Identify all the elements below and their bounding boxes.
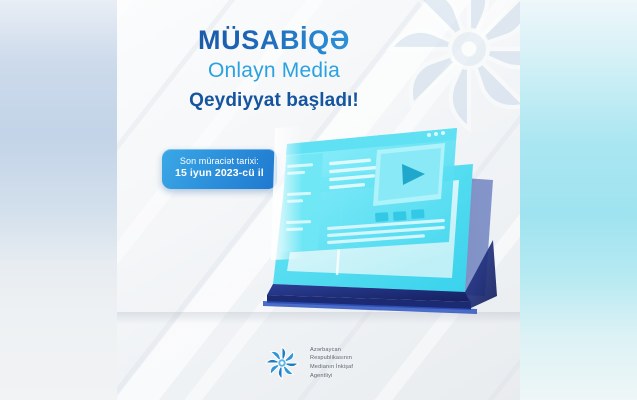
page-title: MÜSABİQƏ xyxy=(149,26,399,55)
deadline-date: 15 iyun 2023-cü il xyxy=(175,167,264,181)
page-subtitle: Onlayn Media xyxy=(149,59,399,82)
page-cta-text: Qeydiyyat başladı! xyxy=(149,91,399,112)
laptop-illustration xyxy=(257,120,517,335)
poster-canvas: MÜSABİQƏ Onlayn Media Qeydiyyat başladı!… xyxy=(0,0,637,400)
right-letterbox-band xyxy=(520,0,637,400)
poster-artwork-panel: MÜSABİQƏ Onlayn Media Qeydiyyat başladı!… xyxy=(117,0,520,400)
ornament-emblem-icon xyxy=(263,344,301,382)
left-letterbox-band xyxy=(0,0,117,400)
headline-block: MÜSABİQƏ Onlayn Media Qeydiyyat başladı! xyxy=(149,26,399,112)
organization-name: Azərbaycan Respublikasının Medianın İnki… xyxy=(310,346,353,381)
deadline-label: Son müraciət tarixi: xyxy=(175,156,264,167)
footer-logo: Azərbaycan Respublikasının Medianın İnki… xyxy=(263,344,353,382)
